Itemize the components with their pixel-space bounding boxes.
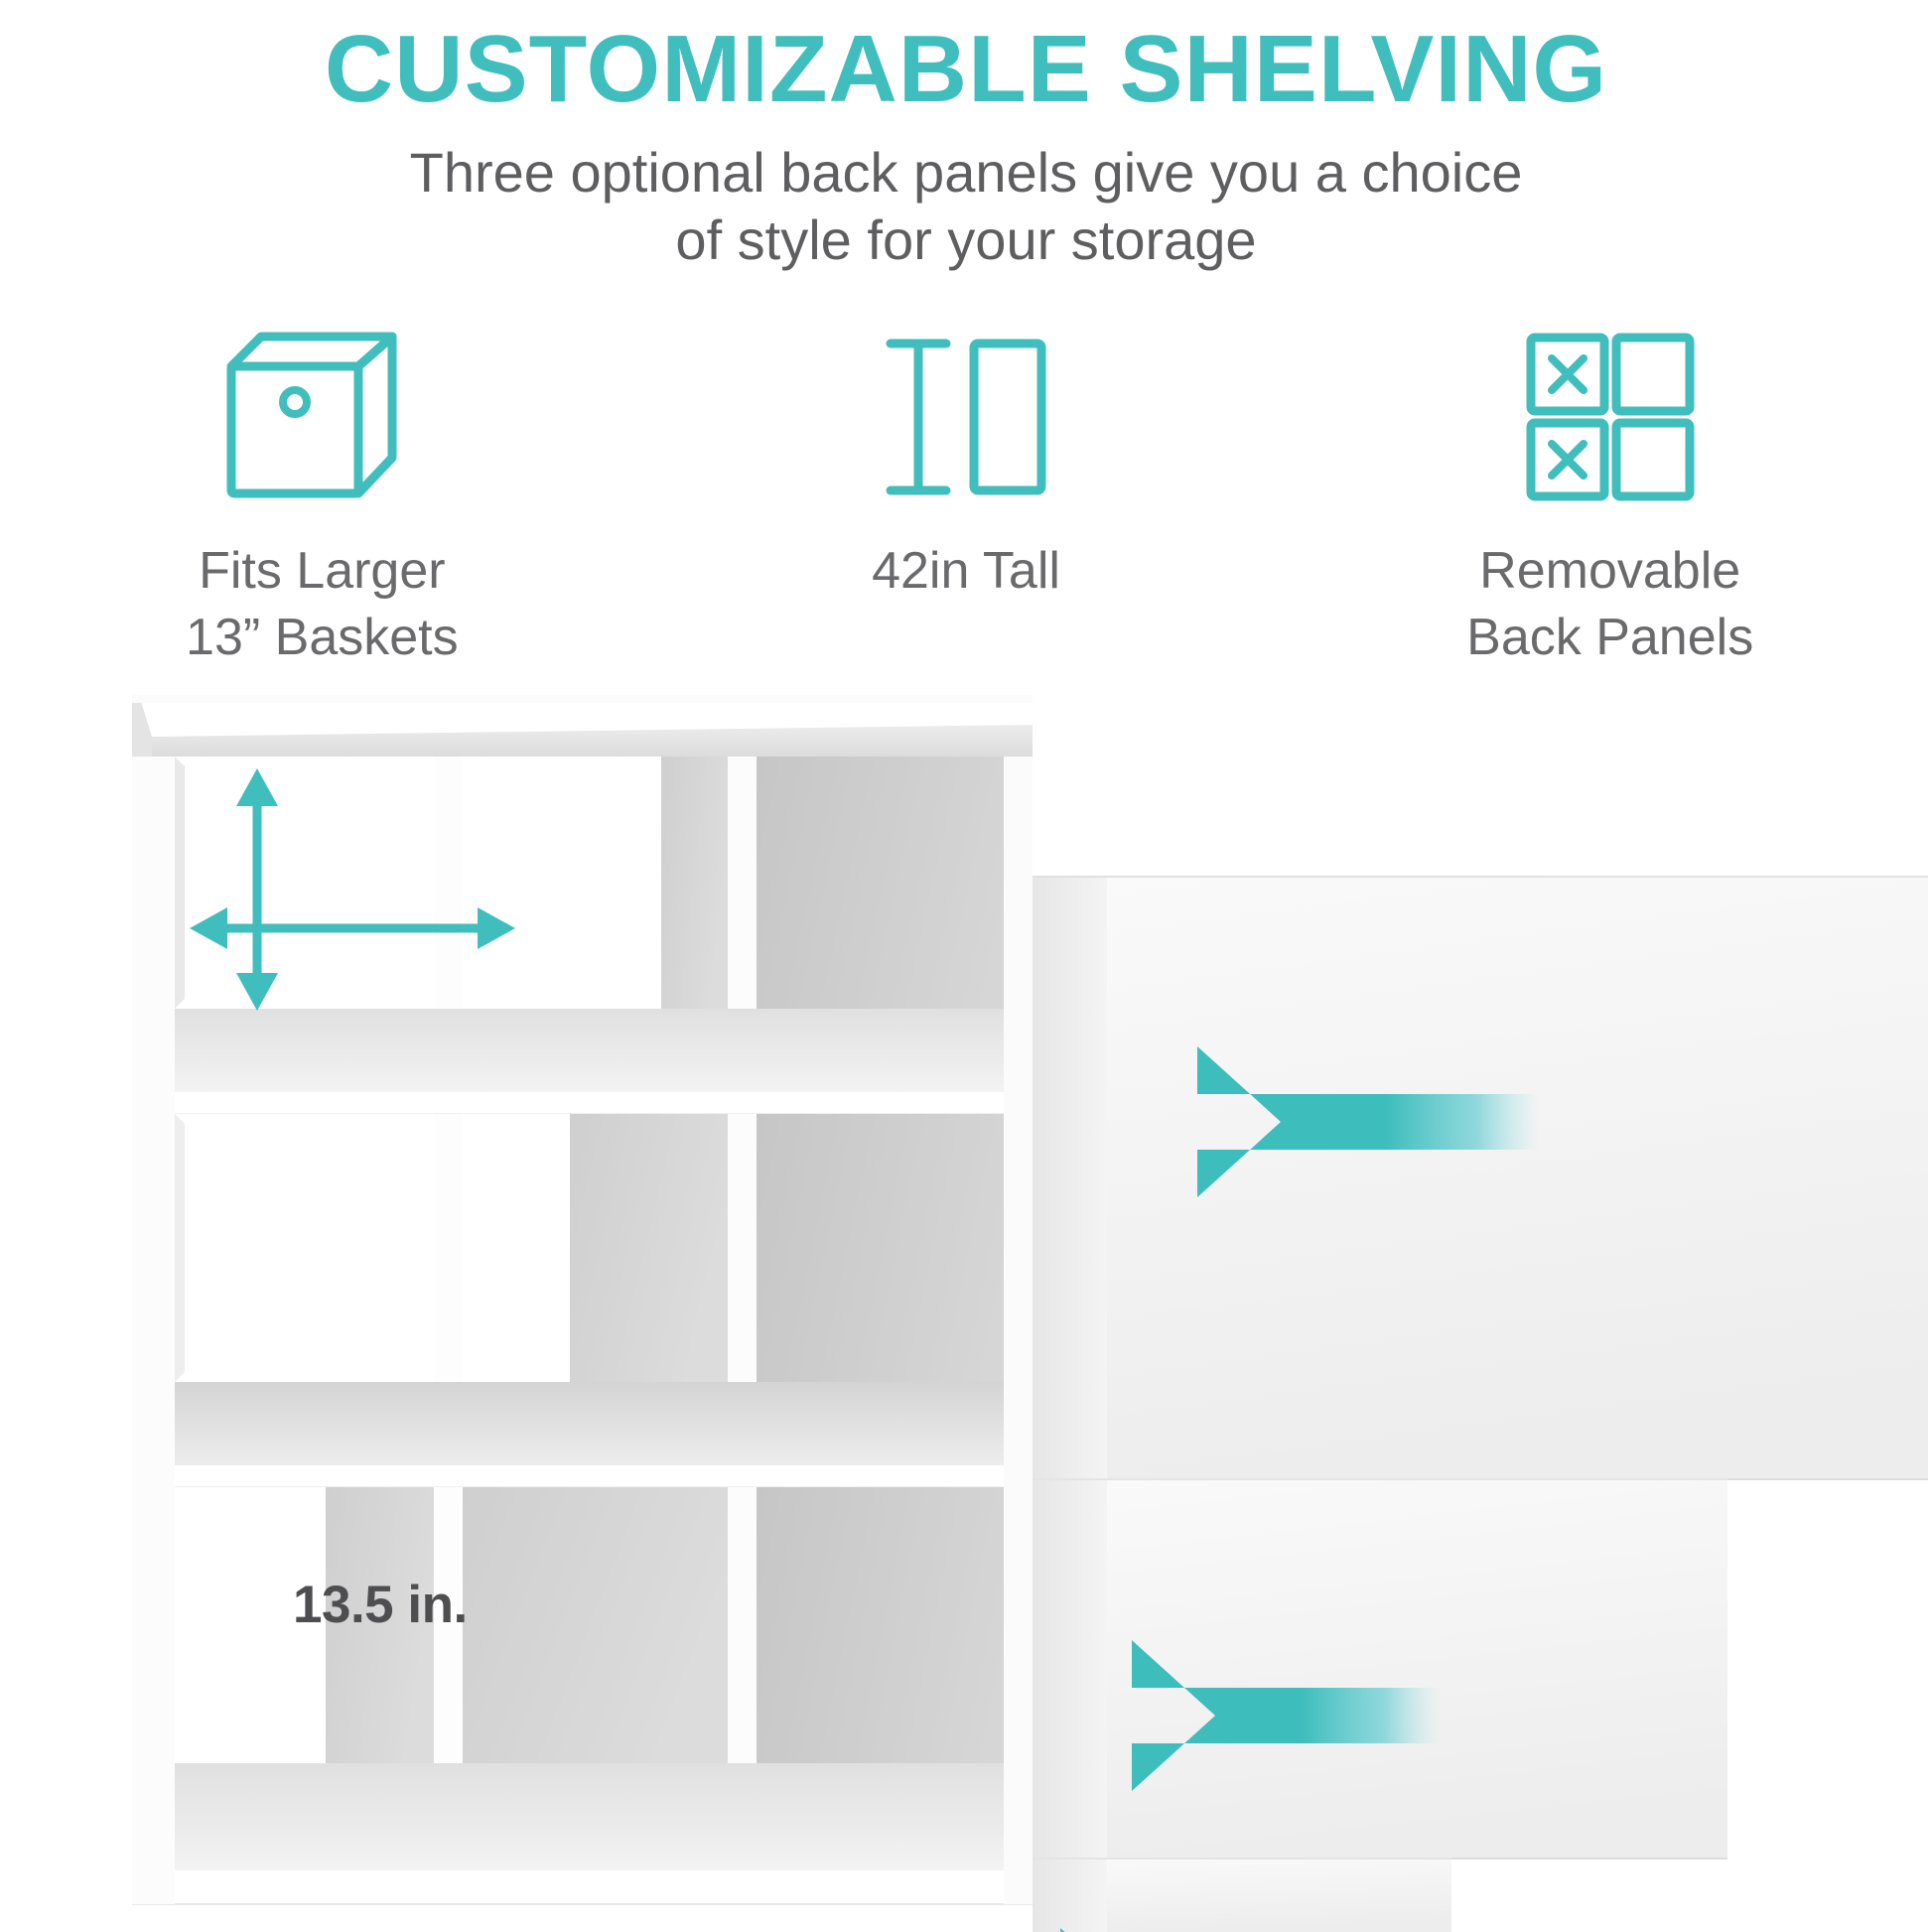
feature-label-line-2: Back Panels xyxy=(1466,605,1753,671)
product-illustration: 13.5 in. xyxy=(0,695,1932,1932)
cube-dimension-label: 13.5 in. xyxy=(293,1575,468,1635)
back-panel-top xyxy=(1033,877,1928,1479)
removable-panel-grid-icon xyxy=(1521,318,1700,516)
height-ruler-icon xyxy=(877,318,1055,516)
feature-strip: Fits Larger 13” Baskets 42in Tall xyxy=(0,318,1932,695)
feature-label: Removable Back Panels xyxy=(1466,538,1753,670)
subtitle-line-2: of style for your storage xyxy=(0,207,1932,274)
feature-label-line-1: 42in Tall xyxy=(872,538,1060,605)
back-panel-group xyxy=(1033,877,1928,1932)
feature-label-line-1: Removable xyxy=(1466,538,1753,605)
feature-label-line-2: 13” Baskets xyxy=(186,605,459,671)
back-panel-bottom xyxy=(1033,1859,1451,1932)
storage-cube-basket-icon xyxy=(217,318,426,516)
feature-label: 42in Tall xyxy=(872,538,1060,605)
page-title: CUSTOMIZABLE SHELVING xyxy=(0,0,1932,117)
subtitle-line-1: Three optional back panels give you a ch… xyxy=(0,139,1932,207)
feature-label-line-1: Fits Larger xyxy=(186,538,459,605)
feature-42in-tall: 42in Tall xyxy=(644,318,1289,695)
feature-label: Fits Larger 13” Baskets xyxy=(186,538,459,670)
feature-removable-back-panels: Removable Back Panels xyxy=(1288,318,1932,695)
feature-fits-larger-baskets: Fits Larger 13” Baskets xyxy=(0,318,644,695)
page-subtitle: Three optional back panels give you a ch… xyxy=(0,117,1932,275)
cube-shelf-unit xyxy=(132,695,1035,1932)
header: CUSTOMIZABLE SHELVING Three optional bac… xyxy=(0,0,1932,275)
